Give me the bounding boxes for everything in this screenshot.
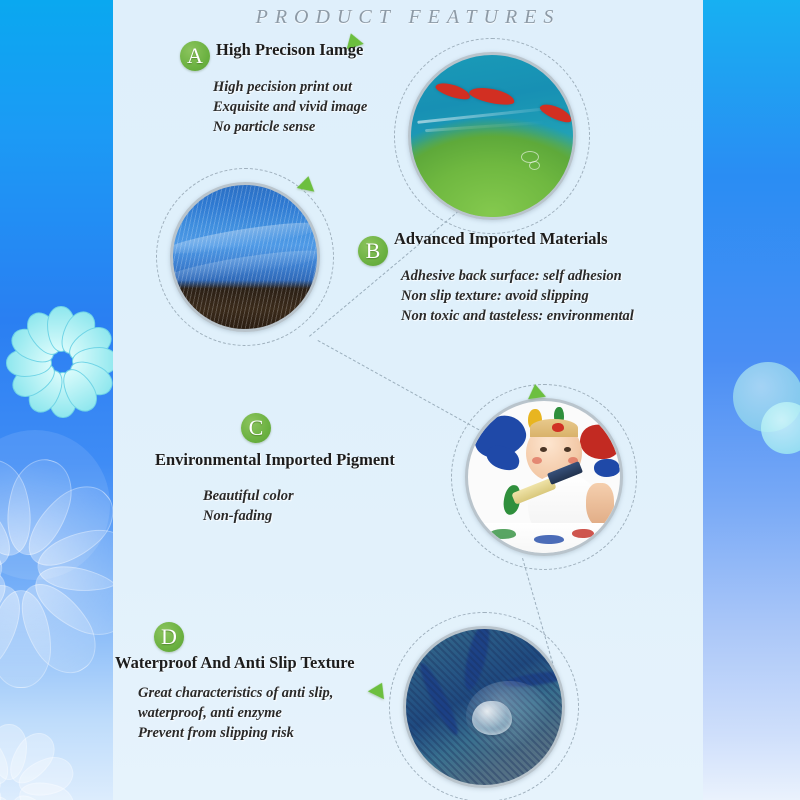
koi-fish xyxy=(434,80,472,103)
paint-splatter xyxy=(534,535,564,544)
arrow-c-icon xyxy=(526,383,546,399)
feature-c-line-2: Non-fading xyxy=(203,506,294,526)
product-features-infographic: PRODUCT FEATURES A High xyxy=(0,0,800,800)
baby-painting-photo[interactable] xyxy=(465,398,623,556)
baby-eye xyxy=(564,447,571,452)
feature-a-line-3: No particle sense xyxy=(213,117,367,137)
feature-a-line-1: High pecision print out xyxy=(213,77,367,97)
koi-pond-photo[interactable] xyxy=(408,52,576,220)
photo-c-inner xyxy=(468,401,620,553)
decor-bubble xyxy=(761,402,800,454)
feature-b-line-2: Non slip texture: avoid slipping xyxy=(401,286,634,306)
badge-a: A xyxy=(180,41,210,71)
page-title: PRODUCT FEATURES xyxy=(113,6,703,29)
waterproof-texture-photo[interactable] xyxy=(403,626,565,788)
paint-splatter xyxy=(572,529,594,538)
feature-c-line-1: Beautiful color xyxy=(203,486,294,506)
paint-splatter xyxy=(594,459,620,477)
feature-b-title: Advanced Imported Materials xyxy=(394,229,608,249)
feature-d-line-3: Prevent from slipping risk xyxy=(138,723,333,743)
feature-a-line-2: Exquisite and vivid image xyxy=(213,97,367,117)
baby-eye xyxy=(540,447,547,452)
droplet-sheen xyxy=(466,681,552,751)
right-decorative-band xyxy=(703,0,800,800)
feature-c-lines: Beautiful color Non-fading xyxy=(203,486,294,526)
left-decorative-band xyxy=(0,0,113,800)
feature-c-title: Environmental Imported Pigment xyxy=(155,450,395,470)
baby-cheek xyxy=(532,457,542,464)
arrow-d-icon xyxy=(368,679,390,699)
feature-d-line-1: Great characteristics of anti slip, xyxy=(138,683,333,703)
badge-d: D xyxy=(154,622,184,652)
paint-splatter xyxy=(490,529,516,539)
baby-arm xyxy=(586,483,614,527)
water-ripple xyxy=(529,161,540,170)
koi-fish xyxy=(468,84,516,107)
feature-a-lines: High pecision print out Exquisite and vi… xyxy=(213,77,367,137)
feature-b-line-1: Adhesive back surface: self adhesion xyxy=(401,266,634,286)
feature-b-lines: Adhesive back surface: self adhesion Non… xyxy=(401,266,634,326)
badge-b: B xyxy=(358,236,388,266)
photo-a-inner xyxy=(411,55,573,217)
feature-a-title: High Precison Iamge xyxy=(216,40,363,60)
badge-c: C xyxy=(241,413,271,443)
paint-dot-forehead xyxy=(552,423,564,432)
feature-d-title: Waterproof And Anti Slip Texture xyxy=(115,653,355,673)
photo-d-inner xyxy=(406,629,562,785)
lily-pad xyxy=(411,117,573,217)
photo-b-inner xyxy=(173,185,317,329)
feature-d-line-2: waterproof, anti enzyme xyxy=(138,703,333,723)
feature-d-lines: Great characteristics of anti slip, wate… xyxy=(138,683,333,743)
content-panel: PRODUCT FEATURES A High xyxy=(113,0,703,800)
feature-b-line-3: Non toxic and tasteless: environmental xyxy=(401,306,634,326)
blue-fabric-photo[interactable] xyxy=(170,182,320,332)
